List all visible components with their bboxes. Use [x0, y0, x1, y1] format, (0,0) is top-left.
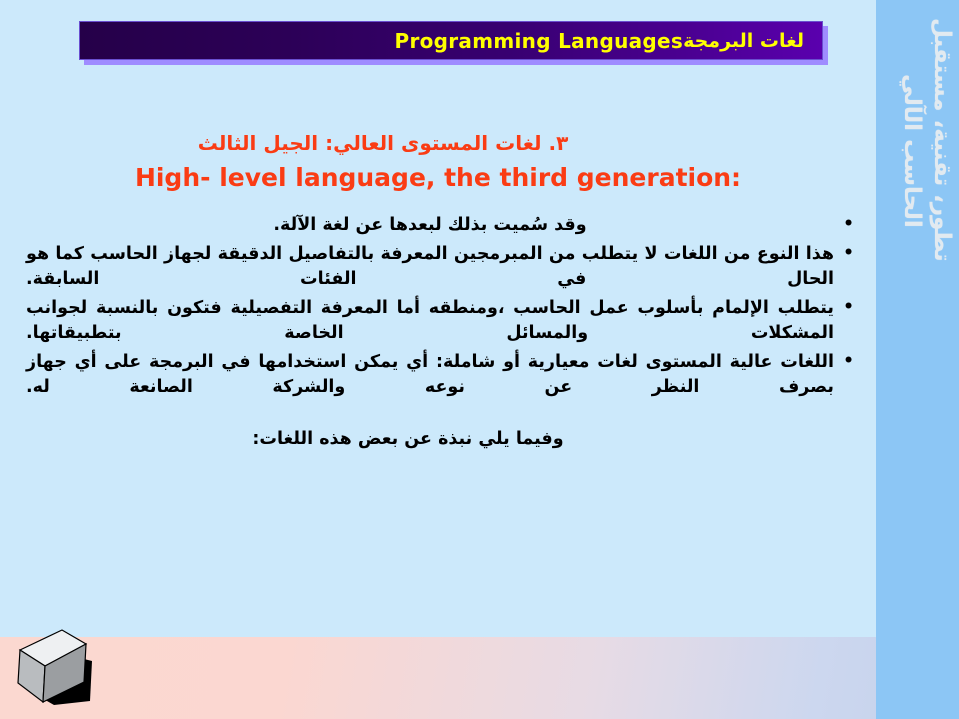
list-item: هذا النوع من اللغات لا يتطلب من المبرمجي…: [26, 242, 856, 293]
presentation-slide: تطور، تقنية، مستقبل الحاسب الآلي Program…: [0, 0, 959, 719]
sidebar-vertical-text-primary: تطور، تقنية، مستقبل: [929, 18, 955, 262]
bullet-list: وقد سُميت بذلك لبعدها عن لغة الآلة. هذا …: [0, 213, 876, 401]
right-sidebar: تطور، تقنية، مستقبل الحاسب الآلي: [876, 0, 959, 719]
page-number-block-graphic: ٧٩: [14, 625, 144, 717]
list-item: يتطلب الإلمام بأسلوب عمل الحاسب ،ومنطقه …: [26, 296, 856, 347]
slide-title-latin: Programming Languages: [394, 29, 683, 53]
section-heading-english: High- level language, the third generati…: [0, 163, 876, 193]
sidebar-text-group: تطور، تقنية، مستقبل الحاسب الآلي: [876, 0, 959, 719]
slide-title-arabic: لغات البرمجة: [683, 30, 804, 52]
section-heading-arabic: ٣. لغات المستوى العالي: الجيل الثالث: [0, 130, 766, 157]
slide-title-banner: Programming Languages لغات البرمجة: [79, 21, 823, 60]
sidebar-vertical-text-secondary: الحاسب الآلي: [899, 74, 925, 228]
cube-icon: [14, 625, 144, 717]
closing-statement: وفيما يلي نبذة عن بعض هذه اللغات:: [0, 429, 816, 449]
slide-content: ٣. لغات المستوى العالي: الجيل الثالث Hig…: [0, 130, 876, 449]
list-item: اللغات عالية المستوى لغات معيارية أو شام…: [26, 350, 856, 401]
list-item: وقد سُميت بذلك لبعدها عن لغة الآلة.: [26, 213, 856, 239]
